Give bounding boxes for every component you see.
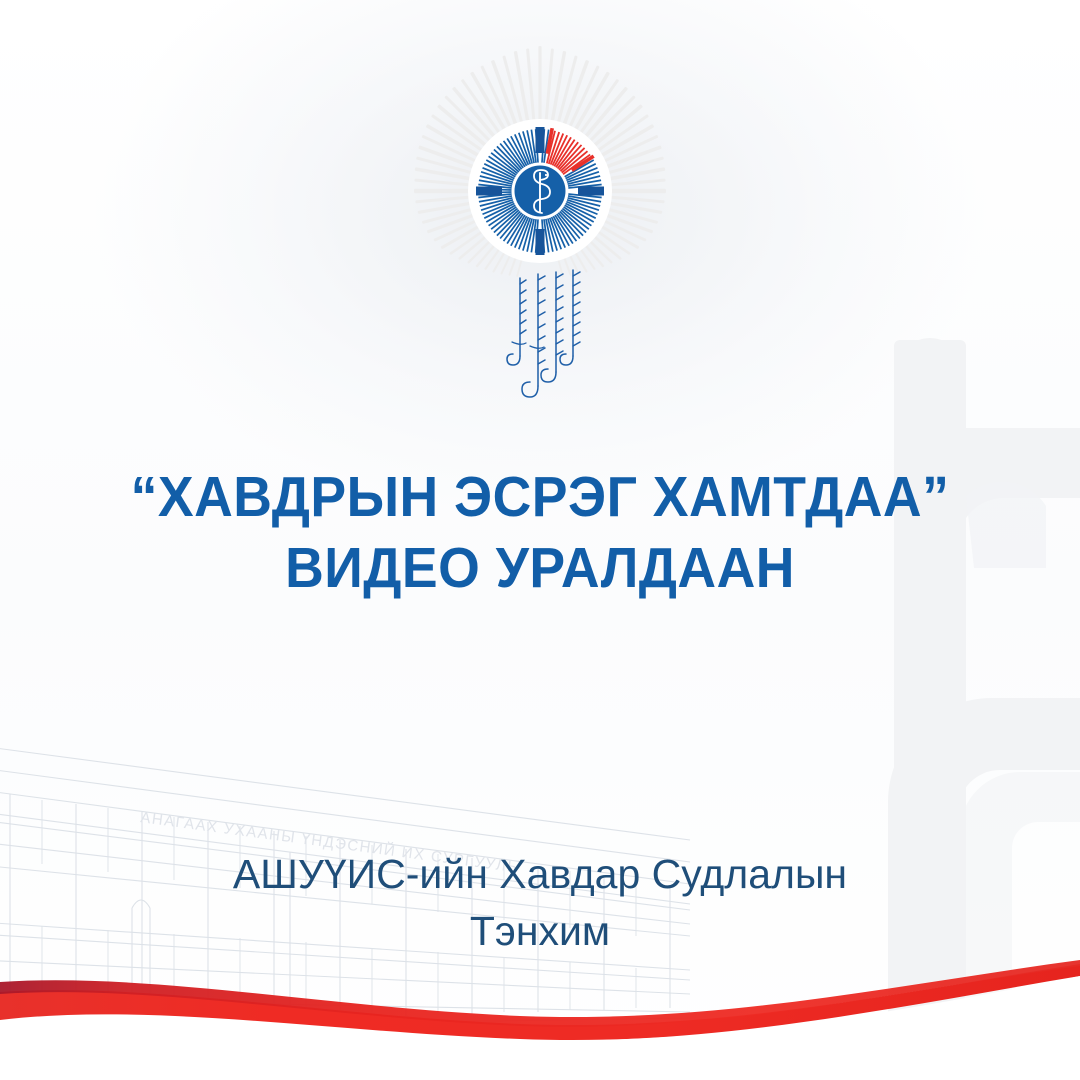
title-block: “ХАВДРЫН ЭСРЭГ ХАМТДАА” ВИДЕО УРАЛДААН <box>0 462 1080 603</box>
poster-canvas: АНАГААХ УХААНЫ ҮНДЭСНИЙ ИХ СУРГУУЛЬ <box>0 0 1080 1080</box>
title-line-1: “ХАВДРЫН ЭСРЭГ ХАМТДАА” <box>32 462 1047 533</box>
title-line-2: ВИДЕО УРАЛДААН <box>32 533 1047 604</box>
subtitle-block: АШУҮИС-ийн Хавдар Судлалын Тэнхим <box>0 846 1080 959</box>
subtitle-line-1: АШУҮИС-ийн Хавдар Судлалын <box>0 846 1080 903</box>
mongolian-script-caption <box>507 270 580 397</box>
mnums-emblem <box>360 46 720 406</box>
logo-block <box>0 46 1080 406</box>
subtitle-line-2: Тэнхим <box>0 903 1080 960</box>
